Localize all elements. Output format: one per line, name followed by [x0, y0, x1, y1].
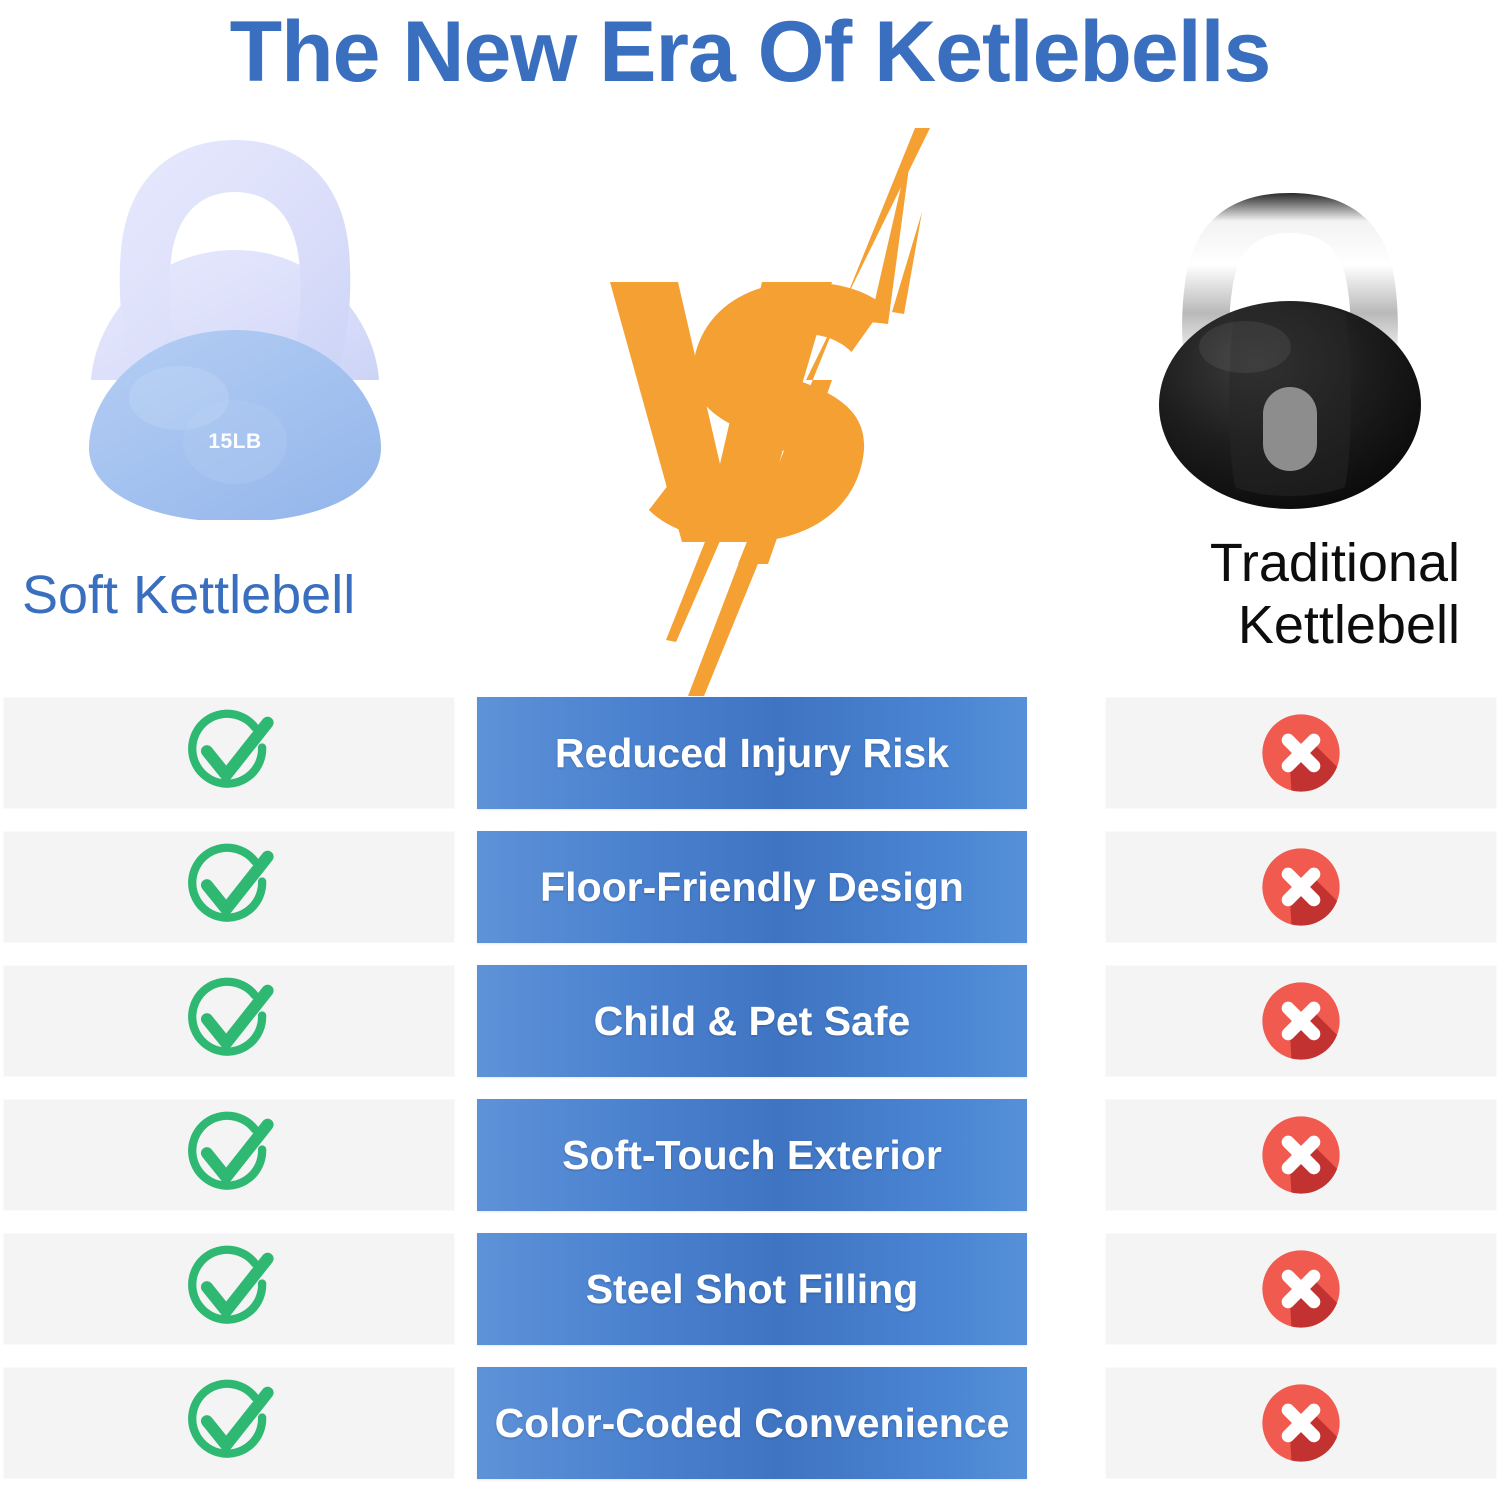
traditional-kettlebell-cell: [1105, 1233, 1497, 1345]
red-x-circle-icon: [1255, 841, 1347, 933]
soft-kettlebell-cell: [3, 831, 455, 943]
green-check-circle-icon: [183, 1109, 275, 1201]
green-check-circle-icon: [183, 841, 275, 933]
feature-label-panel: Color-Coded Convenience: [477, 1367, 1027, 1479]
column-caption-traditional: Traditional Kettlebell: [940, 532, 1460, 656]
column-caption-soft: Soft Kettlebell: [22, 564, 452, 626]
feature-label: Floor-Friendly Design: [540, 864, 964, 911]
soft-kettlebell-cell: [3, 1367, 455, 1479]
traditional-kettlebell-icon: [1135, 187, 1445, 512]
page-title: The New Era Of Ketlebells: [0, 2, 1500, 102]
traditional-kettlebell-image: [1135, 187, 1445, 512]
red-x-circle-icon: [1255, 1109, 1347, 1201]
traditional-kettlebell-cell: [1105, 697, 1497, 809]
feature-label-panel: Steel Shot Filling: [477, 1233, 1027, 1345]
table-row: Soft-Touch Exterior: [0, 1099, 1500, 1211]
red-x-circle-icon: [1255, 707, 1347, 799]
column-caption-traditional-line2: Kettlebell: [940, 594, 1460, 656]
kettlebell-weight-badge: 15LB: [75, 430, 395, 454]
soft-kettlebell-cell: [3, 1099, 455, 1211]
green-check-circle-icon: [183, 975, 275, 1067]
feature-label-panel: Soft-Touch Exterior: [477, 1099, 1027, 1211]
traditional-kettlebell-cell: [1105, 1099, 1497, 1211]
feature-label: Steel Shot Filling: [586, 1266, 919, 1313]
table-row: Child & Pet Safe: [0, 965, 1500, 1077]
traditional-kettlebell-cell: [1105, 965, 1497, 1077]
feature-label: Soft-Touch Exterior: [562, 1132, 942, 1179]
red-x-circle-icon: [1255, 975, 1347, 1067]
red-x-circle-icon: [1255, 1377, 1347, 1469]
soft-kettlebell-cell: [3, 697, 455, 809]
soft-kettlebell-icon: [75, 130, 395, 520]
soft-kettlebell-cell: [3, 965, 455, 1077]
feature-label-panel: Reduced Injury Risk: [477, 697, 1027, 809]
feature-label-panel: Floor-Friendly Design: [477, 831, 1027, 943]
traditional-kettlebell-cell: [1105, 1367, 1497, 1479]
green-check-circle-icon: [183, 707, 275, 799]
table-row: Steel Shot Filling: [0, 1233, 1500, 1345]
table-row: Color-Coded Convenience: [0, 1367, 1500, 1479]
feature-label: Child & Pet Safe: [594, 998, 911, 1045]
infographic-page: The New Era Of Ketlebells: [0, 0, 1500, 1485]
comparison-table: Reduced Injury Risk Floor-Friendly Desig…: [0, 697, 1500, 1485]
green-check-circle-icon: [183, 1243, 275, 1335]
hero-section: 15LB: [0, 112, 1500, 682]
column-caption-traditional-line1: Traditional: [940, 532, 1460, 594]
green-check-circle-icon: [183, 1377, 275, 1469]
traditional-kettlebell-cell: [1105, 831, 1497, 943]
feature-label: Reduced Injury Risk: [555, 730, 949, 777]
red-x-circle-icon: [1255, 1243, 1347, 1335]
vs-bolt-icon: [570, 112, 970, 697]
versus-lightning-icon: [570, 112, 970, 697]
table-row: Floor-Friendly Design: [0, 831, 1500, 943]
feature-label: Color-Coded Convenience: [495, 1400, 1010, 1447]
soft-kettlebell-cell: [3, 1233, 455, 1345]
table-row: Reduced Injury Risk: [0, 697, 1500, 809]
soft-kettlebell-image: 15LB: [75, 130, 395, 520]
feature-label-panel: Child & Pet Safe: [477, 965, 1027, 1077]
